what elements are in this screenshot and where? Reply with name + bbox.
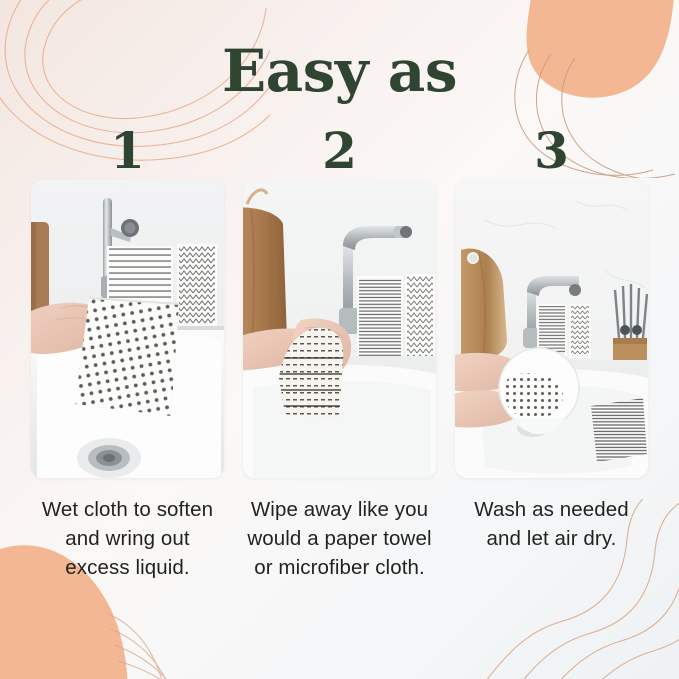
page-title: Easy as xyxy=(0,42,679,100)
step-1: 1 xyxy=(30,126,225,656)
step-3: 3 xyxy=(454,126,649,656)
step-caption-1: Wet cloth to soften and wring out excess… xyxy=(35,495,220,582)
step-caption-2: Wipe away like you would a paper towel o… xyxy=(247,495,432,582)
step-photo-1 xyxy=(31,180,224,478)
step-photo-3 xyxy=(455,180,648,478)
step-number-2: 2 xyxy=(322,126,357,180)
step-photo-2 xyxy=(243,180,436,478)
steps-row: 1 xyxy=(0,126,679,656)
step-number-3: 3 xyxy=(534,126,569,180)
step-caption-3: Wash as needed and let air dry. xyxy=(459,495,644,553)
step-2: 2 xyxy=(242,126,437,656)
step-number-1: 1 xyxy=(110,126,145,180)
promo-infographic: Easy as 1 xyxy=(0,0,679,679)
